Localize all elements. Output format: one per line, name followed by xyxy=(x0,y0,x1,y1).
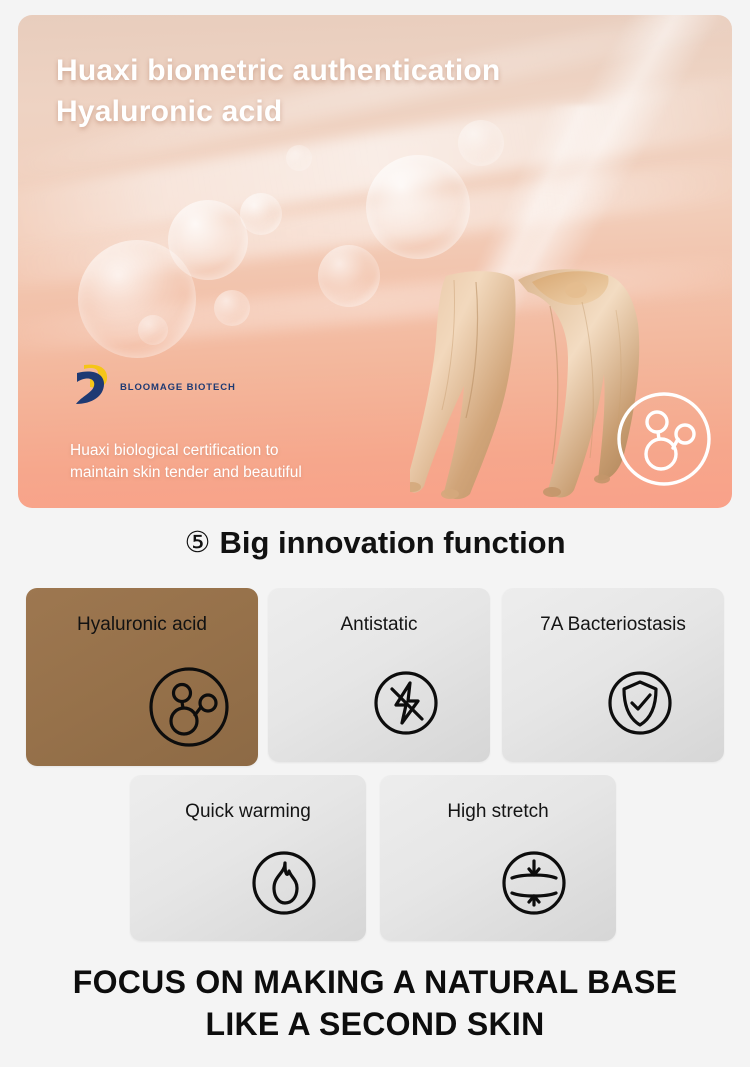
section-number-badge: ⑤ xyxy=(184,529,210,558)
feature-card-label: Antistatic xyxy=(268,614,490,636)
bloomage-logo-text: BLOOMAGE BIOTECH xyxy=(120,382,236,393)
hero-banner: Huaxi biometric authentication Hyaluroni… xyxy=(18,15,732,508)
feature-card-7a-bacteriostasis[interactable]: 7A Bacteriostasis xyxy=(502,588,724,762)
section-heading-text: Big innovation function xyxy=(219,525,565,561)
gel-bubble xyxy=(214,290,250,326)
hero-title: Huaxi biometric authentication Hyaluroni… xyxy=(56,50,500,133)
gel-bubble xyxy=(168,200,248,280)
gel-bubble xyxy=(366,155,470,259)
stretch-arrows-icon xyxy=(494,843,574,923)
bloomage-logo: BLOOMAGE BIOTECH xyxy=(70,363,236,412)
bottom-tagline: FOCUS ON MAKING A NATURAL BASE LIKE A SE… xyxy=(0,962,750,1045)
gel-bubble xyxy=(286,145,312,171)
flame-icon xyxy=(244,843,324,923)
product-image-thermal-underwear xyxy=(410,258,650,508)
feature-card-label: Hyaluronic acid xyxy=(26,614,258,636)
feature-card-high-stretch[interactable]: High stretch xyxy=(380,775,616,941)
feature-card-label: Quick warming xyxy=(130,801,366,823)
bloomage-logo-mark-icon xyxy=(70,363,112,412)
feature-card-label: 7A Bacteriostasis xyxy=(502,614,724,636)
gel-bubble xyxy=(138,315,168,345)
no-lightning-icon xyxy=(366,663,446,743)
feature-card-quick-warming[interactable]: Quick warming xyxy=(130,775,366,941)
hero-molecule-badge-icon xyxy=(615,390,713,488)
shield-check-icon xyxy=(600,663,680,743)
product-feature-page: Huaxi biometric authentication Hyaluroni… xyxy=(0,0,750,1067)
feature-card-hyaluronic-acid[interactable]: Hyaluronic acid xyxy=(26,588,258,766)
gel-bubble xyxy=(240,193,282,235)
feature-card-label: High stretch xyxy=(380,801,616,823)
section-heading: ⑤ Big innovation function xyxy=(0,525,750,561)
feature-card-antistatic[interactable]: Antistatic xyxy=(268,588,490,762)
hero-subtitle: Huaxi biological certification to mainta… xyxy=(70,440,302,484)
gel-bubble xyxy=(318,245,380,307)
molecule-icon xyxy=(148,666,230,748)
